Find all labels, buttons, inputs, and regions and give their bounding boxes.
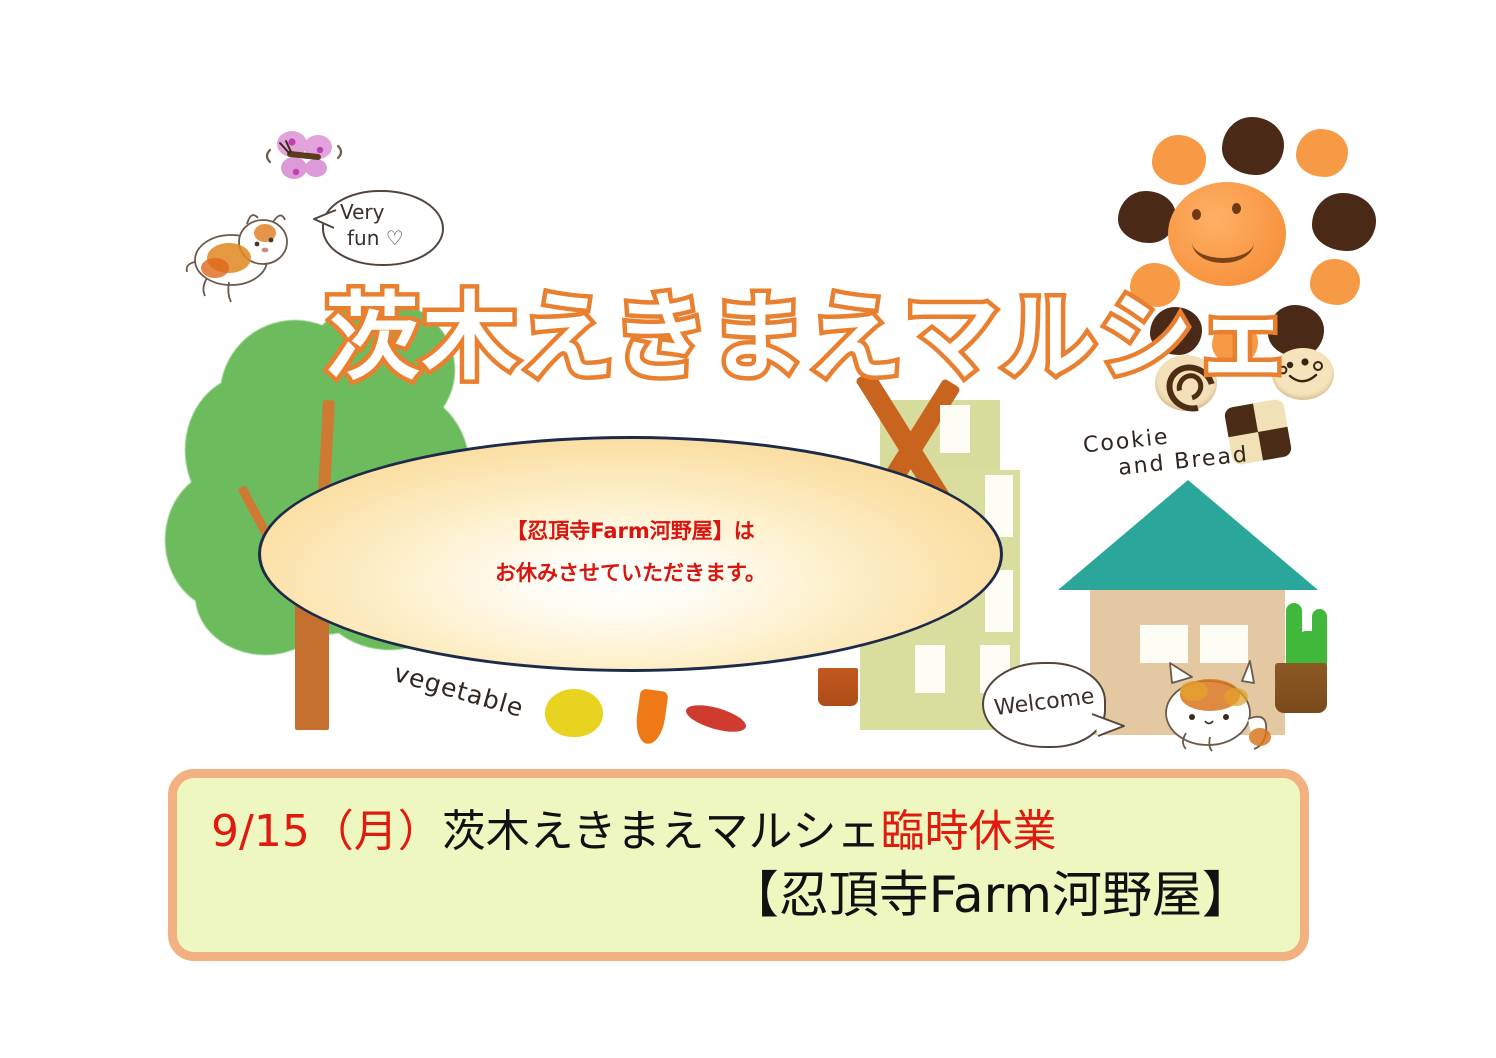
notice-weekday: （月）	[310, 806, 442, 857]
house-teal-roof-icon	[1058, 480, 1318, 590]
announcement-line-1: 【忍頂寺Farm河野屋】は	[258, 510, 1003, 552]
sun-eye-left	[1192, 209, 1201, 220]
very-fun-bubble-tail	[312, 208, 338, 232]
sun-smile	[1192, 222, 1254, 263]
notice-date: 9/15	[211, 806, 310, 857]
announcement-text: 【忍頂寺Farm河野屋】は お休みさせていただきます。	[258, 510, 1003, 594]
dog-icon	[185, 200, 300, 310]
notice-box: 9/15（月）茨木えきまえマルシェ臨時休業 【忍頂寺Farm河野屋】	[168, 769, 1309, 961]
fun-label: fun ♡	[347, 226, 404, 250]
notice-vendor: 【忍頂寺Farm河野屋】	[177, 864, 1252, 927]
poster-canvas: Very fun ♡ Welcome vegetable Cookie and …	[0, 0, 1496, 1058]
welcome-bubble-tail	[1090, 710, 1126, 740]
announcement-line-2: お休みさせていただきます。	[258, 552, 1003, 594]
notice-status: 臨時休業	[881, 806, 1057, 857]
page-title-outline: 茨木えきまえマルシェ	[325, 286, 1292, 391]
cat-icon	[1150, 655, 1285, 765]
very-label: Very	[340, 200, 385, 224]
notice-line-1: 9/15（月）茨木えきまえマルシェ臨時休業	[211, 804, 1057, 859]
notice-event: 茨木えきまえマルシェ	[442, 806, 881, 857]
announcement-bubble: 【忍頂寺Farm河野屋】は お休みさせていただきます。	[258, 436, 1003, 776]
sun-eye-right	[1232, 203, 1241, 214]
butterfly-icon	[258, 126, 350, 192]
